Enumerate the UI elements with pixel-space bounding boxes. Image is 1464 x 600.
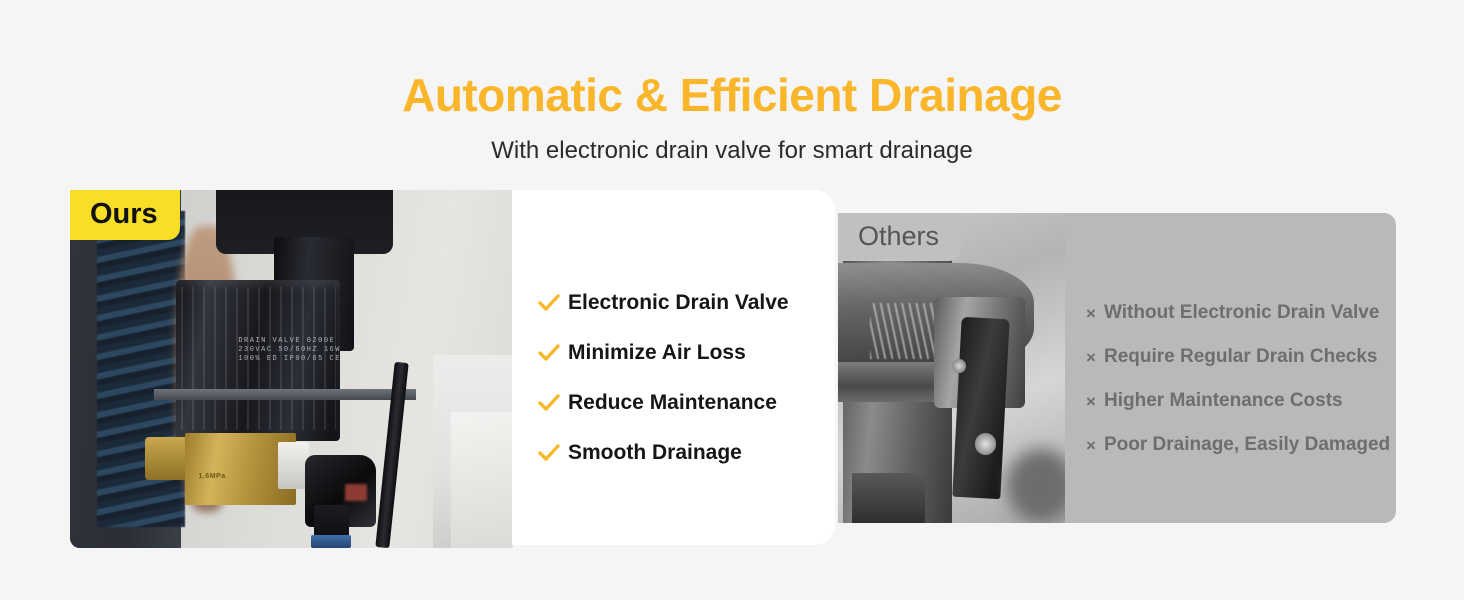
photo-white-box [451,412,513,548]
list-item: × Higher Maintenance Costs [1083,379,1393,423]
ours-badge: Ours [70,190,180,240]
list-item-label: Reduce Maintenance [568,391,777,415]
photo-pivot-screw [952,359,966,373]
photo-red-part [345,484,367,502]
list-item-label: Smooth Drainage [568,441,742,465]
others-badge: Others [838,213,961,261]
photo-lever-handle [952,317,1009,499]
list-item: Minimize Air Loss [536,328,821,378]
list-item-label: Without Electronic Drain Valve [1104,302,1379,324]
photo-brass-knob [145,437,189,480]
page-subtitle: With electronic drain valve for smart dr… [0,134,1464,168]
list-item: Electronic Drain Valve [536,278,821,328]
list-item: × Poor Drainage, Easily Damaged [1083,423,1393,467]
ours-feature-list: Electronic Drain Valve Minimize Air Loss… [536,278,821,478]
photo-pressure-label: 1.6MPa [198,473,287,480]
photo-blue-collar [311,535,351,548]
page-title: Automatic & Efficient Drainage [0,66,1464,124]
list-item-label: Require Regular Drain Checks [1104,346,1377,368]
cross-icon: × [1083,349,1099,366]
list-item: × Without Electronic Drain Valve [1083,291,1393,335]
cross-icon: × [1083,305,1099,322]
cross-icon: × [1083,437,1099,454]
list-item-label: Electronic Drain Valve [568,291,789,315]
ours-section: DRAIN VALVE 0200E 230VAC 50/60HZ 16W 100… [70,190,835,548]
list-item-label: Minimize Air Loss [568,341,746,365]
photo-valve-label: DRAIN VALVE 0200E 230VAC 50/60HZ 16W 100… [238,337,353,364]
ours-feature-card: Electronic Drain Valve Minimize Air Loss… [512,190,835,545]
check-icon [536,394,562,412]
comparison-banner: Automatic & Efficient Drainage With elec… [0,0,1464,600]
photo-pipe-base [852,473,925,523]
list-item-label: Poor Drainage, Easily Damaged [1104,434,1390,456]
cross-icon: × [1083,393,1099,410]
check-icon [536,294,562,312]
list-item: × Require Regular Drain Checks [1083,335,1393,379]
check-icon [536,344,562,362]
list-item: Smooth Drainage [536,428,821,478]
list-item: Reduce Maintenance [536,378,821,428]
list-item-label: Higher Maintenance Costs [1104,390,1343,412]
check-icon [536,444,562,462]
others-drawback-panel: × Without Electronic Drain Valve × Requi… [1065,213,1396,523]
photo-screw [975,433,997,455]
others-section: Others × Without Electronic Drain Valve … [838,213,1396,523]
others-drawback-list: × Without Electronic Drain Valve × Requi… [1083,291,1393,467]
photo-mount-bracket [154,389,415,400]
ours-product-photo: DRAIN VALVE 0200E 230VAC 50/60HZ 16W 100… [70,190,513,548]
